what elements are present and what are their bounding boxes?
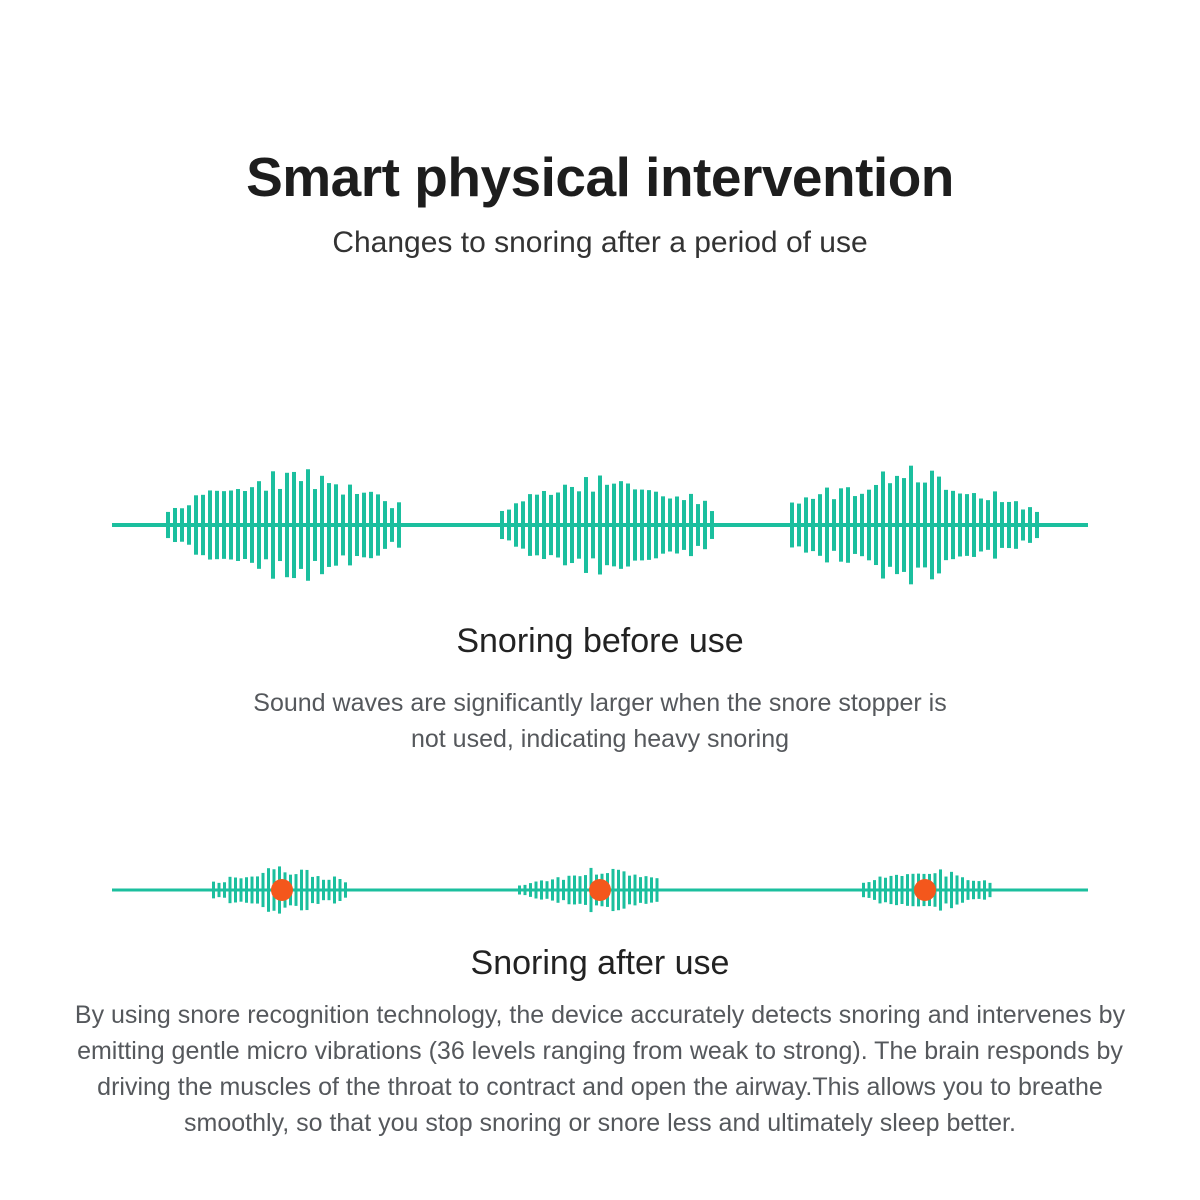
waveform-bar bbox=[521, 501, 525, 548]
waveform-bar bbox=[884, 878, 887, 903]
caption-before-use: Snoring before use Sound waves are signi… bbox=[0, 620, 1200, 757]
waveform-bar bbox=[598, 476, 602, 575]
waveform-bar bbox=[656, 878, 659, 902]
waveform-bar bbox=[983, 880, 986, 899]
waveform-bar bbox=[300, 870, 303, 911]
waveform-bar bbox=[397, 502, 401, 547]
waveform-bar bbox=[832, 499, 836, 551]
waveform-bar bbox=[972, 881, 975, 899]
waveform-bar bbox=[262, 873, 265, 907]
waveform-bar bbox=[306, 469, 310, 581]
waveform-bar bbox=[584, 477, 588, 573]
waveform-bar bbox=[873, 880, 876, 900]
waveform-bar bbox=[888, 483, 892, 567]
waveform-bar bbox=[251, 877, 254, 904]
waveform-before-use bbox=[0, 440, 1200, 610]
waveform-after-use bbox=[0, 845, 1200, 935]
waveform-bar bbox=[951, 491, 955, 559]
waveform-bar bbox=[573, 876, 576, 905]
waveform-bar bbox=[551, 879, 554, 900]
waveform-bar bbox=[790, 503, 794, 548]
waveform-bar bbox=[243, 491, 247, 559]
waveform-bar bbox=[986, 500, 990, 550]
waveform-bar bbox=[166, 512, 170, 538]
waveform-bar bbox=[187, 505, 191, 544]
waveform-bar bbox=[639, 877, 642, 903]
waveform-bar bbox=[634, 875, 637, 906]
waveform-bar bbox=[930, 471, 934, 580]
waveform-bar bbox=[383, 501, 387, 549]
waveform-bar bbox=[591, 492, 595, 559]
waveform-bar bbox=[229, 491, 233, 560]
waveform-bar bbox=[890, 876, 893, 904]
waveform-bar bbox=[334, 484, 338, 565]
waveform-bar bbox=[320, 476, 324, 574]
waveform-bar bbox=[568, 876, 571, 904]
waveform-bar bbox=[348, 485, 352, 566]
waveform-bar bbox=[223, 882, 226, 897]
waveform-bar bbox=[194, 495, 198, 554]
waveform-bar bbox=[650, 877, 653, 902]
waveform-bar bbox=[514, 503, 518, 546]
waveform-bar bbox=[563, 485, 567, 566]
waveform-bar bbox=[628, 876, 631, 905]
waveform-bar bbox=[390, 508, 394, 542]
waveform-bar bbox=[546, 881, 549, 899]
waveform-bar bbox=[881, 471, 885, 578]
waveform-bar bbox=[967, 880, 970, 900]
waveform-bar bbox=[989, 883, 992, 897]
waveform-bar bbox=[853, 496, 857, 554]
waveform-bar bbox=[557, 877, 560, 903]
waveform-after-use-svg bbox=[0, 845, 1200, 935]
waveform-bar bbox=[978, 881, 981, 899]
waveform-bar bbox=[542, 491, 546, 559]
waveform-bar bbox=[215, 491, 219, 559]
waveform-bar bbox=[950, 872, 953, 908]
waveform-bar bbox=[846, 487, 850, 563]
vibration-trigger-marker-3 bbox=[914, 879, 936, 901]
waveform-bar bbox=[540, 880, 543, 899]
waveform-bar bbox=[240, 878, 243, 901]
waveform-bar bbox=[682, 500, 686, 550]
waveform-bar bbox=[328, 880, 331, 900]
waveform-bar bbox=[327, 483, 331, 567]
waveform-bar bbox=[944, 490, 948, 560]
waveform-bar bbox=[710, 511, 714, 539]
caption-after-use: Snoring after use By using snore recogni… bbox=[0, 942, 1200, 1142]
waveform-bar bbox=[322, 880, 325, 900]
waveform-bar bbox=[895, 476, 899, 574]
waveform-bar bbox=[909, 466, 913, 585]
waveform-bar bbox=[939, 869, 942, 910]
waveform-bar bbox=[333, 877, 336, 904]
page-root: Smart physical intervention Changes to s… bbox=[0, 0, 1200, 1200]
waveform-bar bbox=[257, 481, 261, 569]
waveform-bar bbox=[965, 494, 969, 556]
waveform-bar bbox=[201, 495, 205, 555]
waveform-bar bbox=[923, 483, 927, 568]
waveform-bar bbox=[528, 494, 532, 556]
waveform-bar bbox=[524, 885, 527, 895]
waveform-bar bbox=[839, 488, 843, 561]
waveform-bar bbox=[972, 493, 976, 557]
heading-snoring-before-use: Snoring before use bbox=[0, 620, 1200, 663]
waveform-bar bbox=[369, 492, 373, 558]
heading-snoring-after-use: Snoring after use bbox=[0, 942, 1200, 985]
waveform-bar bbox=[623, 871, 626, 908]
waveform-bar bbox=[956, 875, 959, 904]
waveform-bar bbox=[979, 499, 983, 552]
vibration-trigger-marker-1 bbox=[271, 879, 293, 901]
waveform-bar bbox=[860, 494, 864, 556]
waveform-bar bbox=[906, 874, 909, 906]
waveform-bar bbox=[619, 481, 623, 569]
waveform-bar bbox=[562, 880, 565, 900]
waveform-bar bbox=[295, 874, 298, 906]
waveform-bar bbox=[222, 491, 226, 559]
waveform-bar bbox=[264, 491, 268, 560]
body-snoring-before-use: Sound waves are significantly larger whe… bbox=[250, 685, 950, 758]
waveform-bar bbox=[500, 511, 504, 539]
waveform-bar bbox=[1007, 502, 1011, 548]
waveform-bar bbox=[306, 870, 309, 910]
waveform-bar bbox=[895, 875, 898, 905]
waveform-bar bbox=[236, 489, 240, 561]
waveform-bar bbox=[612, 869, 615, 911]
waveform-bar bbox=[874, 485, 878, 565]
waveform-bar bbox=[818, 494, 822, 556]
waveform-bar bbox=[285, 473, 289, 577]
waveform-bar bbox=[689, 494, 693, 556]
waveform-bar bbox=[299, 481, 303, 569]
page-title: Smart physical intervention bbox=[0, 148, 1200, 207]
waveform-bar bbox=[549, 495, 553, 555]
waveform-bar bbox=[518, 885, 521, 894]
waveform-bar bbox=[645, 876, 648, 904]
waveform-bar bbox=[640, 490, 644, 561]
waveform-bar bbox=[271, 471, 275, 578]
waveform-bar bbox=[579, 876, 582, 904]
waveform-bar bbox=[570, 487, 574, 563]
waveform-bar bbox=[901, 876, 904, 904]
waveform-bar bbox=[1021, 510, 1025, 541]
waveform-bar bbox=[605, 485, 609, 565]
waveform-bar bbox=[344, 882, 347, 897]
waveform-bar bbox=[612, 484, 616, 567]
waveform-bar bbox=[902, 478, 906, 572]
waveform-bar bbox=[696, 504, 700, 546]
body-snoring-after-use: By using snore recognition technology, t… bbox=[65, 997, 1135, 1142]
waveform-bar bbox=[311, 877, 314, 903]
waveform-bar bbox=[212, 882, 215, 899]
waveform-bar bbox=[355, 494, 359, 556]
header: Smart physical intervention Changes to s… bbox=[0, 148, 1200, 261]
waveform-bar bbox=[675, 496, 679, 553]
waveform-bar bbox=[535, 882, 538, 899]
waveform-bar bbox=[1035, 512, 1039, 538]
waveform-bar bbox=[916, 482, 920, 567]
waveform-bar bbox=[535, 495, 539, 556]
waveform-bar bbox=[376, 494, 380, 555]
waveform-bar bbox=[250, 487, 254, 563]
waveform-bar bbox=[507, 510, 511, 541]
waveform-bar bbox=[245, 877, 248, 902]
waveform-bar bbox=[703, 501, 707, 549]
waveform-bar bbox=[313, 489, 317, 561]
waveform-bar bbox=[267, 868, 270, 912]
waveform-bar bbox=[626, 483, 630, 566]
waveform-bar bbox=[278, 489, 282, 561]
waveform-bar bbox=[633, 489, 637, 560]
waveform-bar bbox=[229, 877, 232, 903]
waveform-bar bbox=[945, 877, 948, 904]
waveform-bar bbox=[804, 497, 808, 552]
waveform-bar bbox=[958, 494, 962, 557]
waveform-bar bbox=[654, 492, 658, 559]
waveform-bar bbox=[825, 488, 829, 563]
waveform-bar bbox=[180, 508, 184, 541]
waveform-bar bbox=[961, 877, 964, 902]
waveform-bar bbox=[668, 498, 672, 551]
page-subtitle: Changes to snoring after a period of use bbox=[0, 225, 1200, 261]
waveform-before-use-svg bbox=[0, 440, 1200, 610]
waveform-bar bbox=[868, 882, 871, 898]
waveform-bar bbox=[362, 493, 366, 558]
waveform-bar bbox=[661, 496, 665, 553]
waveform-bar bbox=[339, 879, 342, 901]
waveform-bar bbox=[584, 875, 587, 905]
waveform-bar bbox=[577, 491, 581, 558]
waveform-bar bbox=[879, 877, 882, 904]
vibration-trigger-marker-2 bbox=[589, 879, 611, 901]
waveform-bar bbox=[218, 883, 221, 897]
waveform-bar bbox=[993, 491, 997, 558]
waveform-bar bbox=[208, 490, 212, 559]
waveform-bar bbox=[867, 490, 871, 561]
waveform-bar bbox=[937, 477, 941, 574]
waveform-bar bbox=[1000, 502, 1004, 548]
waveform-bar bbox=[797, 504, 801, 547]
waveform-bar bbox=[556, 493, 560, 558]
waveform-bar bbox=[317, 876, 320, 904]
waveform-bar bbox=[341, 495, 345, 556]
waveform-bar bbox=[647, 490, 651, 560]
waveform-bar bbox=[1028, 507, 1032, 543]
waveform-bar bbox=[256, 876, 259, 903]
waveform-bar bbox=[617, 870, 620, 910]
waveform-bar bbox=[1014, 501, 1018, 549]
waveform-bar bbox=[292, 472, 296, 578]
waveform-bar bbox=[234, 878, 237, 903]
waveform-bar bbox=[529, 883, 532, 897]
waveform-bar bbox=[862, 883, 865, 897]
waveform-bar bbox=[173, 508, 177, 542]
waveform-bar bbox=[811, 499, 815, 551]
